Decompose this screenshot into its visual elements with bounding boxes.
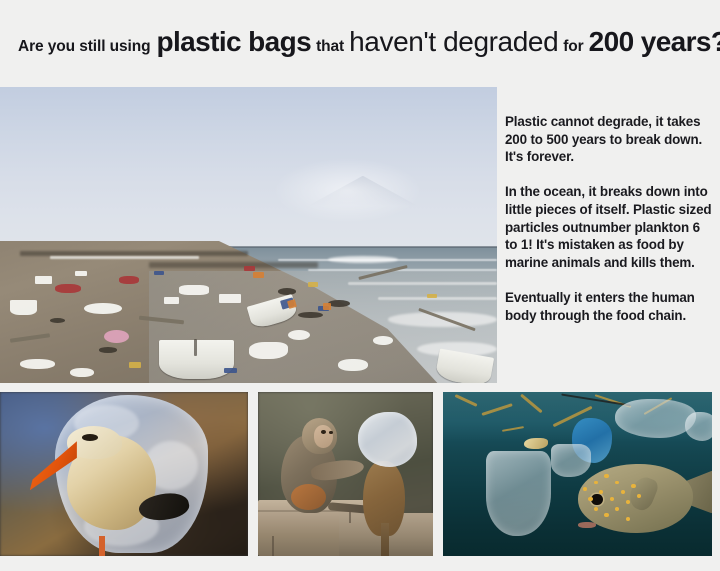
fish-eye [591,494,603,506]
fish-mouth [578,522,597,529]
headline-part-4: haven't degraded [349,28,558,56]
body-copy: Plastic cannot degrade, it takes 200 to … [505,113,715,324]
debris-red [244,266,256,271]
debris-yellow [427,294,437,298]
debris-dark [99,347,117,352]
debris-yellow [308,282,318,287]
foam-patch [328,256,398,263]
debris [373,336,393,345]
monkey-one-rump [291,484,326,510]
debris-orange [253,272,264,278]
debris [50,256,199,260]
fish-spot [588,497,592,501]
debris-rocklike [249,342,289,360]
debris-blue [224,368,237,373]
fish-spot [604,474,608,478]
bird-leg [99,536,105,556]
copy-paragraph-3: Eventually it enters the human body thro… [505,289,715,324]
monkey-one-face [314,425,333,448]
debris [35,276,52,283]
sky-haze [273,158,422,223]
headline-part-6: 200 years? [589,28,720,56]
fish-spot [631,484,635,488]
page-headline: Are you still usingplastic bagsthathaven… [0,28,720,76]
fish-spot [610,497,614,501]
debris-bottle [84,303,122,314]
fish-spot [594,507,598,511]
debris [70,368,95,377]
headline-part-5: for [563,39,583,55]
debris-container [10,300,37,315]
debris [288,330,310,340]
plastic-bag-white [615,399,696,438]
debris [20,359,55,369]
plastic-bag-white [551,444,591,477]
headline-part-1: Are you still using [18,39,150,55]
ledge-crack [272,536,274,556]
fish-spot [637,494,641,498]
sky-region [0,87,497,253]
debris [164,297,179,304]
monkey-one-eye [321,430,326,434]
debris-dark [50,318,65,323]
debris-blue [154,271,164,276]
debris-pink [104,330,129,343]
fish-spot [626,517,630,521]
copy-paragraph-1: Plastic cannot degrade, it takes 200 to … [505,113,715,166]
debris [75,271,88,277]
bucket-handle [194,339,197,357]
plastic-bag-on-monkey-head [358,412,418,468]
debris [338,359,368,371]
debris [179,285,209,295]
debris-dark [278,288,296,295]
debris-red [55,284,81,293]
monkeys-with-plastic-bag-photo [258,392,433,556]
headline-part-3: that [316,39,344,55]
debris [219,294,241,303]
headline-part-2: plastic bags [156,28,311,56]
fish-spot [583,487,587,491]
bird-in-plastic-bag-photo [0,392,248,556]
debris [149,262,318,268]
copy-paragraph-2: In the ocean, it breaks down into little… [505,183,715,271]
debris-red [119,276,139,284]
debris-orange [323,303,331,310]
polluted-beach-photo [0,87,497,383]
fish-with-plastic-bags-underwater-photo [443,392,712,556]
monkey-two-leg [381,523,390,556]
debris-yellow [129,362,141,367]
plastic-bag-white-large [486,451,551,536]
bird-eye [82,434,98,441]
